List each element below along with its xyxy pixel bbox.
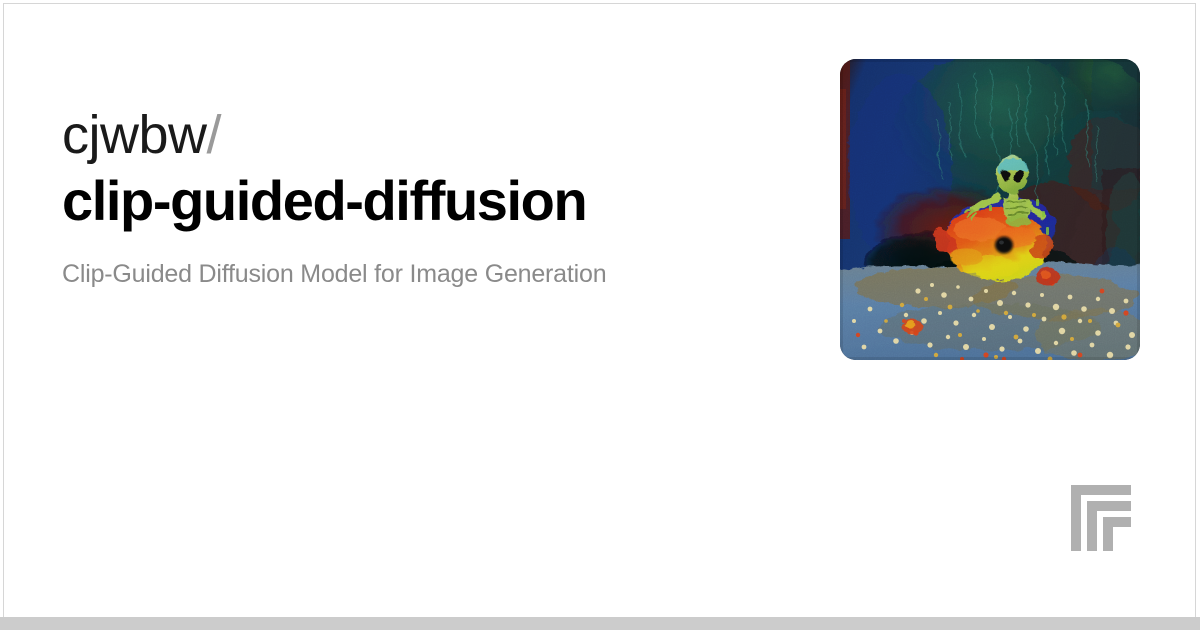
owner-model-separator: / — [207, 105, 222, 165]
owner-line: cjwbw/ — [62, 104, 782, 166]
owner-name[interactable]: cjwbw — [62, 105, 207, 165]
replicate-logo-icon — [1071, 485, 1139, 551]
replicate-logo[interactable] — [1071, 485, 1139, 551]
model-cover-image — [840, 59, 1140, 360]
bottom-bar — [0, 617, 1200, 630]
model-description: Clip-Guided Diffusion Model for Image Ge… — [62, 258, 782, 290]
open-graph-card: cjwbw/ clip-guided-diffusion Clip-Guided… — [0, 0, 1200, 630]
model-name[interactable]: clip-guided-diffusion — [62, 168, 782, 234]
model-heading-block: cjwbw/ clip-guided-diffusion Clip-Guided… — [62, 104, 782, 290]
cover-artwork — [840, 59, 1140, 360]
